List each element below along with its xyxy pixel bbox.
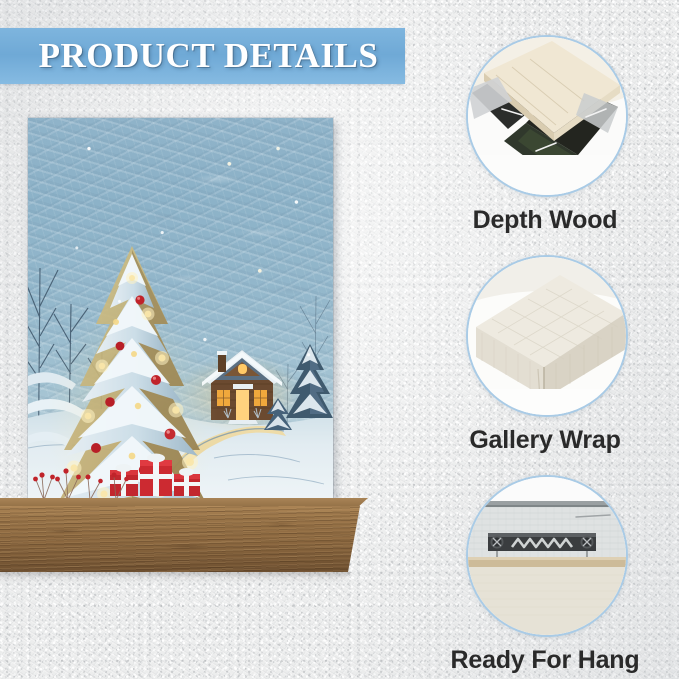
shelf-wood-knots <box>0 506 360 572</box>
feature-label: Ready For Hang <box>440 646 650 675</box>
feature-label: Gallery Wrap <box>440 426 650 455</box>
feature-depth-wood: Depth Wood <box>466 35 624 235</box>
feature-gallery-wrap: Gallery Wrap <box>466 255 624 455</box>
gallery-wrap-circle <box>466 255 628 417</box>
artwork-falling-snow <box>28 118 333 500</box>
feature-ready-for-hang: Ready For Hang <box>466 475 624 675</box>
ready-for-hang-circle <box>466 475 628 637</box>
shelf-drop-shadow <box>0 572 352 582</box>
product-details-image: PRODUCT DETAILS <box>0 0 679 679</box>
depth-wood-circle <box>466 35 628 197</box>
canvas-artwork <box>28 118 333 500</box>
sawtooth-hanger-icon <box>468 477 626 635</box>
feature-label: Depth Wood <box>440 206 650 235</box>
wood-frame-corner-icon <box>468 37 626 195</box>
page-title: PRODUCT DETAILS <box>0 28 405 84</box>
canvas-corner-icon <box>468 257 626 415</box>
wooden-floating-shelf <box>0 498 368 580</box>
